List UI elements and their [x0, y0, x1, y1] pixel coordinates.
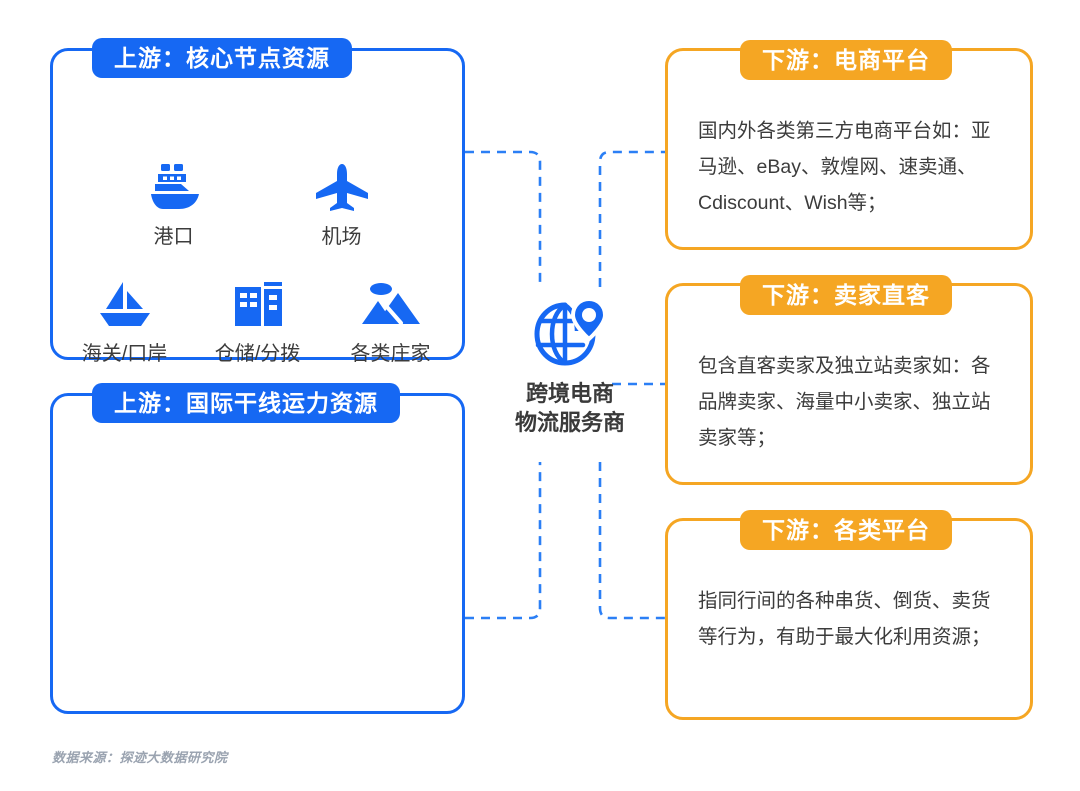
ship-icon	[143, 156, 205, 218]
diagram-canvas: 港口 机场	[0, 0, 1080, 791]
icon-row: 港口 机场	[53, 156, 462, 247]
wire-center-to-down3	[600, 462, 665, 618]
airplane-icon	[311, 156, 373, 218]
center-node: 跨境电商 物流服务商	[470, 297, 670, 437]
panel-body-text: 包含直客卖家及独立站卖家如：各品牌卖家、海量中小卖家、独立站卖家等；	[698, 348, 1004, 456]
icon-label: 海关/口岸	[82, 344, 168, 364]
data-source-note: 数据来源：探迹大数据研究院	[52, 747, 228, 766]
panel-body-text: 国内外各类第三方电商平台如：亚马逊、eBay、敦煌网、速卖通、Cdiscount…	[698, 113, 1004, 221]
globe-location-pin-icon	[531, 297, 609, 369]
icon-item-warehouse[interactable]: 仓储/分拨	[191, 273, 324, 364]
center-node-label: 跨境电商 物流服务商	[515, 379, 625, 437]
icon-item-port[interactable]: 港口	[90, 156, 258, 247]
upstream-badge-trunk-capacity: 上游：国际干线运力资源	[92, 383, 400, 423]
icon-label: 各类庄家	[351, 344, 431, 364]
wire-up2-to-center	[465, 462, 540, 618]
icon-label: 仓储/分拨	[215, 344, 301, 364]
panel-body-text: 指同行间的各种串货、倒货、卖货等行为，有助于最大化利用资源；	[698, 583, 1004, 655]
icon-item-customs[interactable]: 海关/口岸	[58, 273, 191, 364]
upstream-badge-core-nodes: 上游：核心节点资源	[92, 38, 352, 78]
upstream-group-trunk-capacity: 船公司 航司	[50, 393, 465, 714]
upstream-group-core-nodes: 港口 机场	[50, 48, 465, 360]
downstream-badge-direct-sellers: 下游：卖家直客	[740, 275, 952, 315]
icon-row: 海关/口岸	[53, 273, 462, 364]
downstream-badge-ecommerce-platforms: 下游：电商平台	[740, 40, 952, 80]
icon-label: 港口	[154, 227, 194, 247]
icon-item-dealers[interactable]: 各类庄家	[324, 273, 457, 364]
downstream-badge-various-platforms: 下游：各类平台	[740, 510, 952, 550]
warehouse-icon	[227, 273, 289, 335]
sailboat-icon	[94, 273, 156, 335]
mountain-landscape-icon	[360, 273, 422, 335]
icon-grid-core-nodes: 港口 机场	[53, 156, 462, 364]
wire-up1-to-center	[465, 152, 540, 287]
icon-item-airport[interactable]: 机场	[258, 156, 426, 247]
wire-center-to-down1	[600, 152, 665, 287]
icon-label: 机场	[322, 227, 362, 247]
